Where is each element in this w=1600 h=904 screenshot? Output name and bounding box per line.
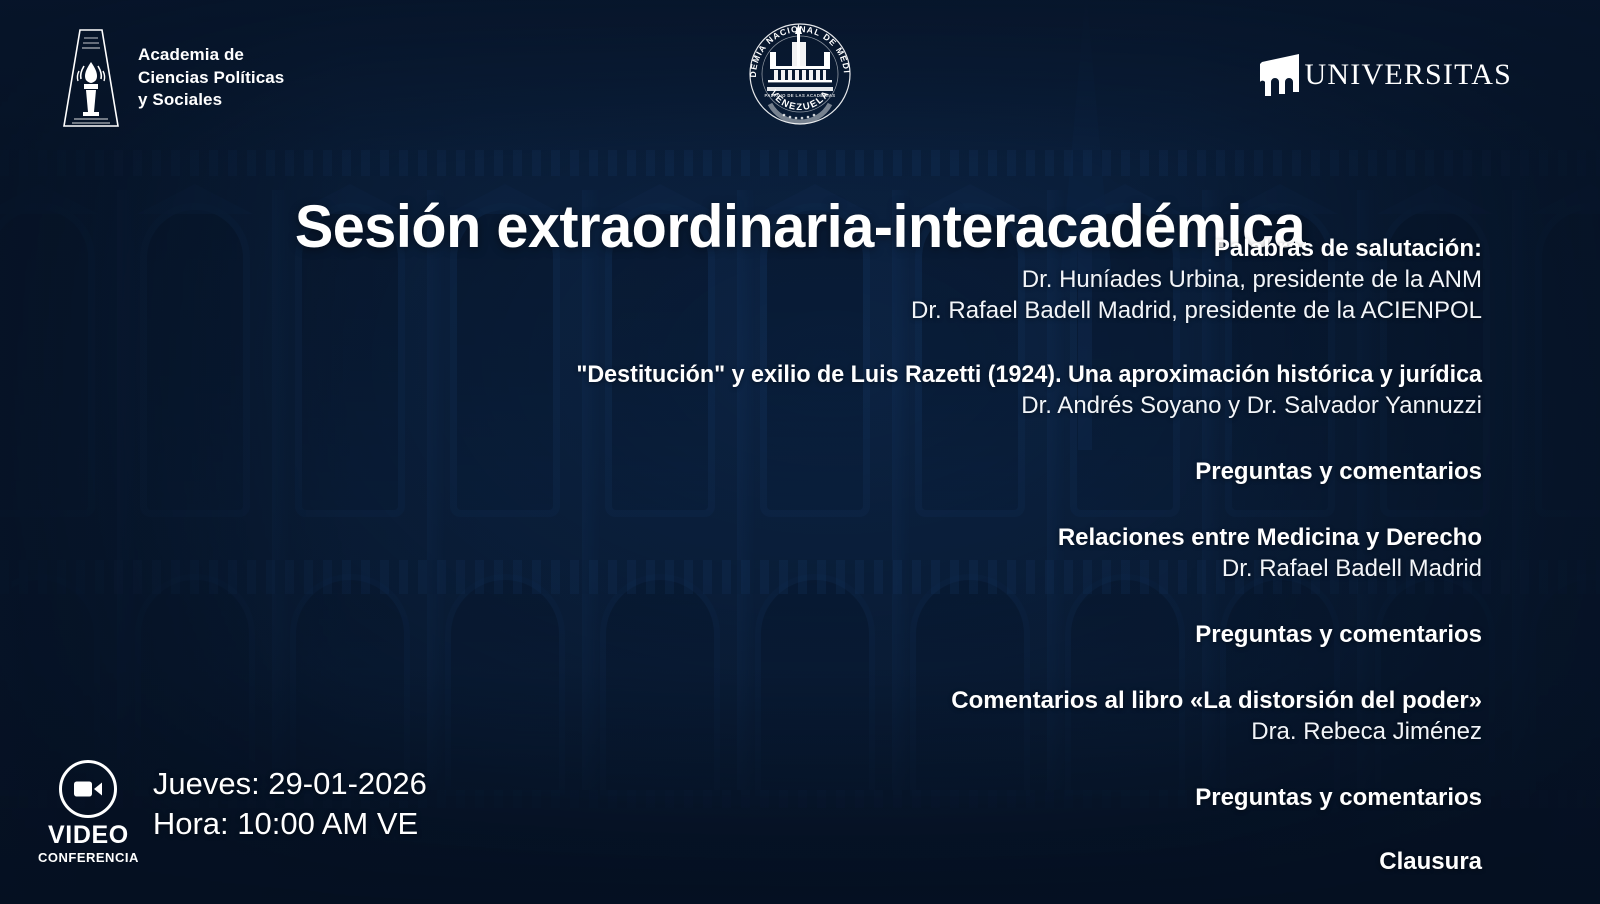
agenda-heading: Preguntas y comentarios — [432, 783, 1482, 813]
agenda-speaker: Dr. Rafael Badell Madrid — [432, 553, 1482, 584]
agenda-list: Palabras de salutación: Dr. Huníades Urb… — [432, 234, 1482, 877]
logo-row: Academia de Ciencias Políticas y Sociale… — [0, 0, 1600, 150]
agenda-item: Comentarios al libro «La distorsión del … — [432, 686, 1482, 747]
anm-seal-icon: ACADEMIA NACIONAL DE MEDICINA VENEZUELA — [740, 14, 860, 134]
acienpol-logo: Academia de Ciencias Políticas y Sociale… — [60, 26, 284, 130]
agenda-heading: "Destitución" y exilio de Luis Razetti (… — [464, 360, 1483, 390]
agenda-item: Preguntas y comentarios — [432, 783, 1482, 813]
agenda-speaker: Dr. Andrés Soyano y Dr. Salvador Yannuzz… — [432, 390, 1482, 421]
svg-text:PALACIO DE LAS ACADEMIAS: PALACIO DE LAS ACADEMIAS — [764, 93, 835, 98]
universitas-logo: UNIVERSITAS — [1259, 52, 1512, 100]
torch-emblem-icon — [60, 26, 122, 130]
event-date: Jueves: 29-01-2026 — [153, 764, 427, 804]
arcade-icon — [1259, 52, 1303, 100]
videoconference-info: VIDEO CONFERENCIA Jueves: 29-01-2026 Hor… — [38, 760, 427, 866]
agenda-speaker: Dr. Rafael Badell Madrid, presidente de … — [432, 295, 1482, 326]
videoconference-badge-line2: CONFERENCIA — [38, 851, 139, 864]
agenda-heading: Clausura — [432, 847, 1482, 877]
agenda-item: Clausura — [432, 847, 1482, 877]
agenda-heading: Preguntas y comentarios — [432, 457, 1482, 487]
agenda-heading: Preguntas y comentarios — [432, 620, 1482, 650]
agenda-speaker: Dra. Rebeca Jiménez — [432, 716, 1482, 747]
anm-logo: ACADEMIA NACIONAL DE MEDICINA VENEZUELA — [740, 14, 860, 134]
agenda-item: Preguntas y comentarios — [432, 457, 1482, 487]
agenda-item: Palabras de salutación: Dr. Huníades Urb… — [432, 234, 1482, 326]
agenda-item: "Destitución" y exilio de Luis Razetti (… — [432, 360, 1482, 421]
agenda-heading: Palabras de salutación: — [432, 234, 1482, 264]
agenda-speaker: Dr. Huníades Urbina, presidente de la AN… — [432, 264, 1482, 295]
agenda-item: Preguntas y comentarios — [432, 620, 1482, 650]
agenda-heading: Comentarios al libro «La distorsión del … — [432, 686, 1482, 716]
acienpol-name: Academia de Ciencias Políticas y Sociale… — [138, 44, 284, 111]
svg-text:VENEZUELA: VENEZUELA — [768, 88, 833, 113]
videoconference-badge-line1: VIDEO — [48, 823, 129, 848]
event-datetime: Jueves: 29-01-2026 Hora: 10:00 AM VE — [153, 764, 427, 866]
event-poster: Academia de Ciencias Políticas y Sociale… — [0, 0, 1600, 904]
video-camera-icon — [59, 760, 117, 818]
event-time: Hora: 10:00 AM VE — [153, 804, 427, 844]
videoconference-badge: VIDEO CONFERENCIA — [38, 760, 139, 866]
agenda-item: Relaciones entre Medicina y Derecho Dr. … — [432, 523, 1482, 584]
universitas-name: UNIVERSITAS — [1305, 60, 1512, 92]
agenda-heading: Relaciones entre Medicina y Derecho — [432, 523, 1482, 553]
